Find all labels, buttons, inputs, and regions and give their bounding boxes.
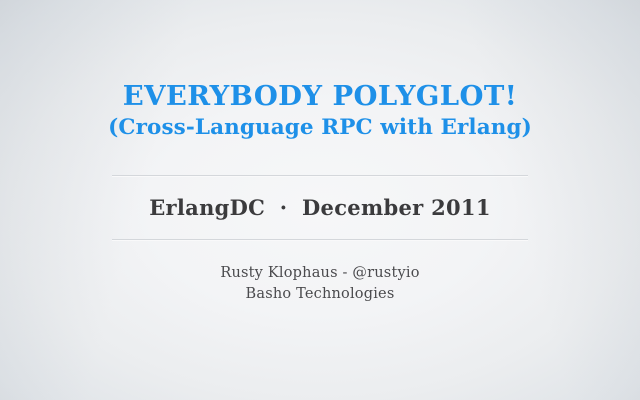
presenter-organization: Basho Technologies (0, 284, 640, 305)
slide-subtitle: (Cross-Language RPC with Erlang) (0, 116, 640, 140)
divider-top (112, 175, 528, 177)
event-date: December 2011 (302, 195, 491, 220)
slide-content: EVERYBODY POLYGLOT! (Cross-Language RPC … (0, 0, 640, 400)
divider-bottom (112, 239, 528, 241)
event-separator-icon: · (273, 196, 295, 220)
event-line: ErlangDC · December 2011 (0, 196, 640, 220)
presenter-block: Rusty Klophaus - @rustyio Basho Technolo… (0, 263, 640, 304)
slide-title: EVERYBODY POLYGLOT! (0, 82, 640, 112)
event-name: ErlangDC (149, 195, 265, 220)
presenter-name: Rusty Klophaus - @rustyio (0, 263, 640, 284)
title-block: EVERYBODY POLYGLOT! (Cross-Language RPC … (0, 82, 640, 140)
presentation-slide: EVERYBODY POLYGLOT! (Cross-Language RPC … (0, 0, 640, 400)
